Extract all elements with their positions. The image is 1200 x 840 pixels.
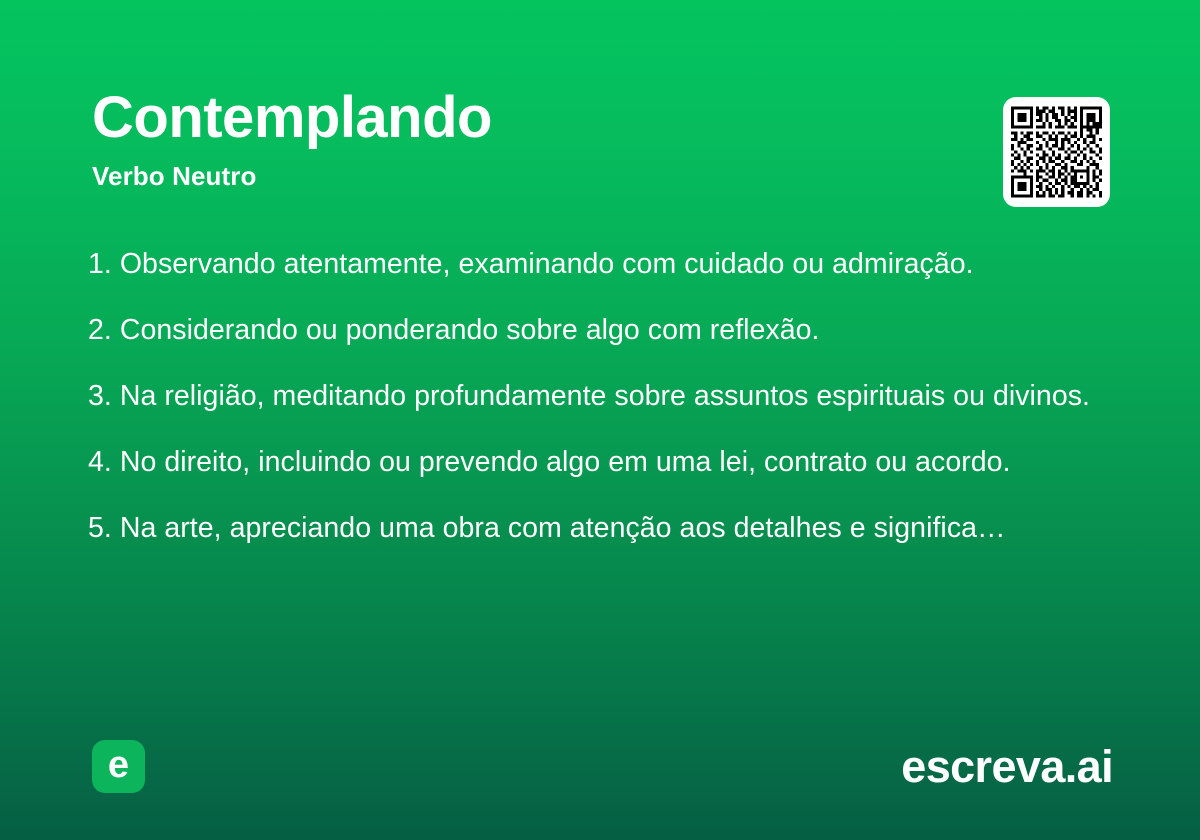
escreva-logo-icon: e	[92, 740, 145, 793]
card-footer: e escreva.ai	[92, 738, 1113, 794]
brand-wordmark: escreva.ai	[901, 744, 1113, 789]
definition-item-1: 1. Observando atentamente, examinando co…	[88, 245, 1118, 283]
definition-item-4: 4. No direito, incluindo ou prevendo alg…	[88, 443, 1118, 481]
word-definition-card: Contemplando Verbo Neutro	[0, 0, 1200, 840]
qr-code-card[interactable]	[1003, 97, 1110, 207]
definition-item-5: 5. Na arte, apreciando uma obra com aten…	[88, 509, 1118, 547]
qr-code-icon	[1011, 104, 1102, 200]
card-header: Contemplando Verbo Neutro	[92, 88, 1108, 191]
definition-list: 1. Observando atentamente, examinando co…	[88, 245, 1118, 547]
word-class-subtitle: Verbo Neutro	[92, 162, 1108, 191]
definition-item-2: 2. Considerando ou ponderando sobre algo…	[88, 311, 1118, 349]
page-title: Contemplando	[92, 88, 1108, 148]
definition-item-3: 3. Na religião, meditando profundamente …	[88, 377, 1118, 415]
logo-letter: e	[108, 746, 129, 784]
